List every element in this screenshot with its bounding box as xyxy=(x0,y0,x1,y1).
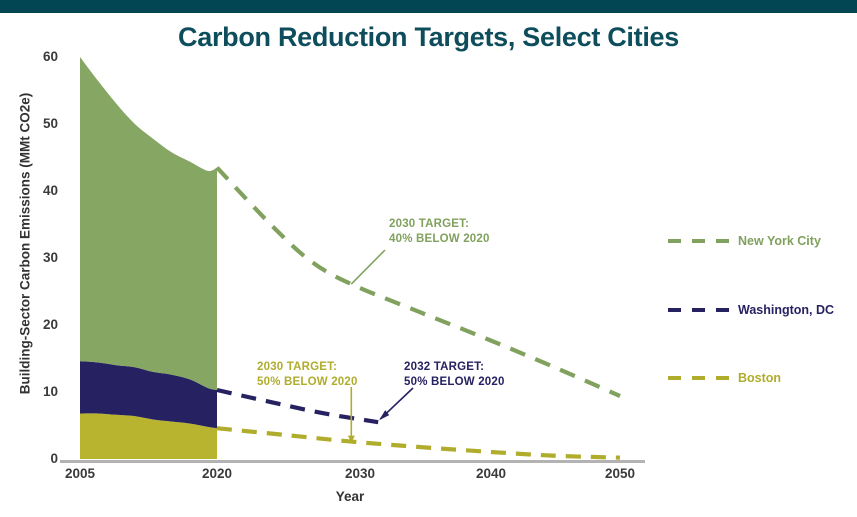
area-new-york-city xyxy=(80,57,217,390)
legend-dash-swatch-dc xyxy=(668,308,730,312)
stacked-area-series xyxy=(80,57,217,459)
annotation-line-2: 40% BELOW 2020 xyxy=(389,232,490,247)
annotation-leader-lines xyxy=(348,250,413,443)
legend-label: Boston xyxy=(738,371,781,385)
legend-dash-swatch-nyc xyxy=(668,239,730,243)
target-trajectory-lines xyxy=(217,168,620,458)
legend-label: New York City xyxy=(738,234,821,248)
target-line-boston xyxy=(217,428,620,457)
legend-item-boston[interactable]: Boston xyxy=(668,369,781,387)
legend-dash-swatch-boston xyxy=(668,376,730,380)
legend-label: Washington, DC xyxy=(738,303,834,317)
annotation-line-1: 2030 TARGET: xyxy=(389,217,490,232)
annotation-line-1: 2030 TARGET: xyxy=(257,360,358,375)
leader-line-nyc xyxy=(351,250,385,284)
legend-item-new-york-city[interactable]: New York City xyxy=(668,232,821,250)
legend-item-washington-dc[interactable]: Washington, DC xyxy=(668,301,834,319)
annotation-nyc-target: 2030 TARGET: 40% BELOW 2020 xyxy=(389,217,490,247)
chart-canvas xyxy=(0,0,857,517)
chart-plot-area: Building-Sector Carbon Emissions (MMt CO… xyxy=(0,0,857,517)
target-line-washington-dc xyxy=(217,390,378,422)
annotation-line-2: 50% BELOW 2020 xyxy=(404,375,505,390)
annotation-dc-target: 2032 TARGET: 50% BELOW 2020 xyxy=(404,360,505,390)
annotation-line-2: 50% BELOW 2020 xyxy=(257,375,358,390)
annotation-boston-target: 2030 TARGET: 50% BELOW 2020 xyxy=(257,360,358,390)
annotation-line-1: 2032 TARGET: xyxy=(404,360,505,375)
